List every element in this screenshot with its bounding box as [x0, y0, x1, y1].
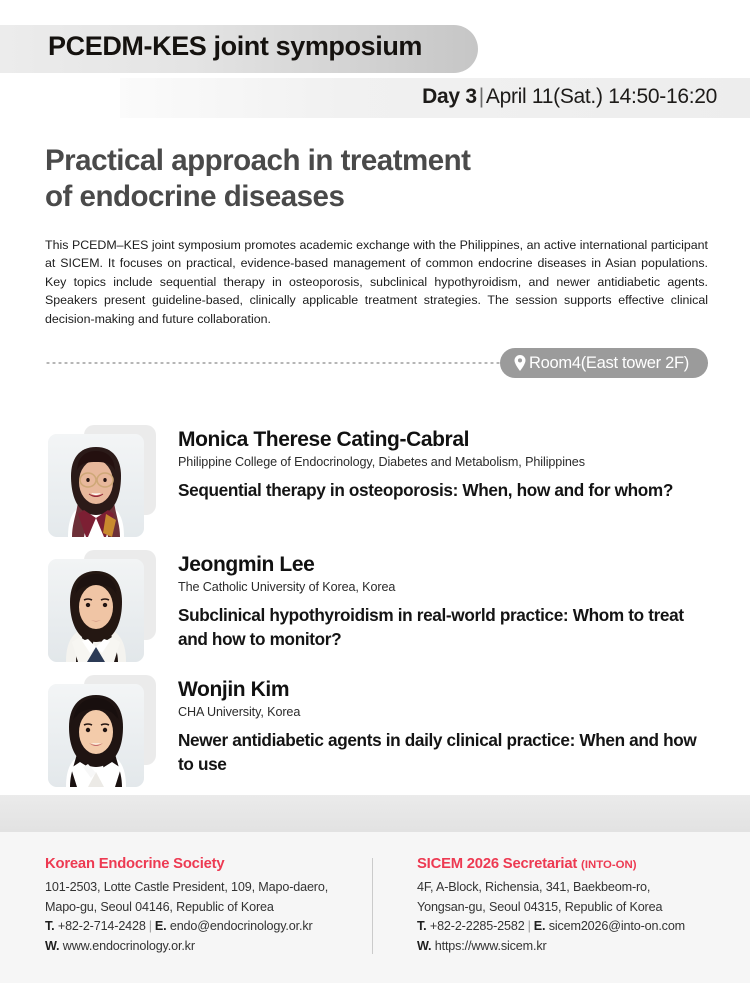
page-title: Practical approach in treatment of endoc… — [45, 143, 471, 215]
footer-address-line-1: 4F, A-Block, Richensia, 341, Baekbeom-ro… — [417, 878, 685, 898]
footer-web-prefix: W. — [45, 939, 59, 953]
footer-email[interactable]: sicem2026@into-on.com — [549, 919, 685, 933]
session-abstract: This PCEDM–KES joint symposium promotes … — [45, 236, 708, 328]
footer-web-row: W. www.endocrinology.or.kr — [45, 937, 375, 957]
speaker-topic: Sequential therapy in osteoporosis: When… — [178, 478, 673, 502]
day-label: Day 3 — [422, 85, 477, 108]
avatar — [48, 550, 158, 662]
footer-org-main: SICEM 2026 Secretariat — [417, 856, 577, 872]
speaker-topic: Subclinical hypothyroidism in real-world… — [178, 603, 713, 651]
footer-contact-row: T. +82-2-714-2428|E. endo@endocrinology.… — [45, 917, 375, 937]
room-badge-label: Room4(East tower 2F) — [529, 354, 689, 373]
footer-web[interactable]: https://www.sicem.kr — [435, 939, 547, 953]
day-separator: | — [477, 85, 486, 108]
avatar — [48, 425, 158, 537]
list-item: Jeongmin Lee The Catholic University of … — [48, 543, 713, 668]
footer-address-line-2: Mapo-gu, Seoul 04146, Republic of Korea — [45, 898, 375, 918]
speaker-text: Wonjin Kim CHA University, Korea Newer a… — [158, 668, 713, 776]
day-datetime: April 11(Sat.) 14:50-16:20 — [486, 85, 717, 108]
poster-header: PCEDM-KES joint symposium Day 3|April 11… — [0, 0, 750, 118]
footer-org-name: Korean Endocrine Society — [45, 856, 375, 872]
speaker-affiliation: Philippine College of Endocrinology, Dia… — [178, 454, 673, 471]
footer-column-secretariat: SICEM 2026 Secretariat (INTO-ON) 4F, A-B… — [375, 856, 685, 956]
footer-org-name: SICEM 2026 Secretariat (INTO-ON) — [417, 856, 685, 872]
footer-tel: +82-2-2285-2582 — [430, 919, 525, 933]
speaker-text: Monica Therese Cating-Cabral Philippine … — [158, 418, 673, 502]
list-item: Wonjin Kim CHA University, Korea Newer a… — [48, 668, 713, 793]
poster-footer: Korean Endocrine Society 101-2503, Lotte… — [0, 832, 750, 983]
session-title: PCEDM-KES joint symposium — [48, 31, 422, 62]
footer-tel-prefix: T. — [417, 919, 427, 933]
footer-tel-prefix: T. — [45, 919, 55, 933]
page-title-line-2: of endocrine diseases — [45, 179, 471, 215]
symposium-poster: PCEDM-KES joint symposium Day 3|April 11… — [0, 0, 750, 983]
footer-contact-separator: | — [525, 919, 534, 933]
footer-column-society: Korean Endocrine Society 101-2503, Lotte… — [45, 856, 375, 956]
footer-tel: +82-2-714-2428 — [58, 919, 146, 933]
footer-address-line-1: 101-2503, Lotte Castle President, 109, M… — [45, 878, 375, 898]
location-pin-icon — [514, 355, 526, 371]
footer-contact-row: T. +82-2-2285-2582|E. sicem2026@into-on.… — [417, 917, 685, 937]
footer-contact-separator: | — [146, 919, 155, 933]
footer-org-sub: (INTO-ON) — [581, 859, 636, 871]
speaker-affiliation: CHA University, Korea — [178, 704, 713, 721]
footer-separator-band — [0, 795, 750, 832]
speaker-name: Monica Therese Cating-Cabral — [178, 427, 673, 452]
footer-email-prefix: E. — [534, 919, 546, 933]
footer-web[interactable]: www.endocrinology.or.kr — [63, 939, 195, 953]
room-row: Room4(East tower 2F) — [45, 348, 708, 378]
speaker-list: Monica Therese Cating-Cabral Philippine … — [48, 418, 713, 793]
avatar — [48, 675, 158, 787]
footer-email-prefix: E. — [155, 919, 167, 933]
avatar-photo — [48, 684, 144, 787]
avatar-photo — [48, 559, 144, 662]
footer-address-line-2: Yongsan-gu, Seoul 04315, Republic of Kor… — [417, 898, 685, 918]
day-datetime-row: Day 3|April 11(Sat.) 14:50-16:20 — [422, 85, 717, 109]
footer-web-row: W. https://www.sicem.kr — [417, 937, 685, 957]
speaker-topic: Newer antidiabetic agents in daily clini… — [178, 728, 713, 776]
avatar-photo — [48, 434, 144, 537]
list-item: Monica Therese Cating-Cabral Philippine … — [48, 418, 713, 543]
page-title-line-1: Practical approach in treatment — [45, 143, 471, 179]
speaker-name: Wonjin Kim — [178, 677, 713, 702]
footer-email[interactable]: endo@endocrinology.or.kr — [170, 919, 313, 933]
speaker-text: Jeongmin Lee The Catholic University of … — [158, 543, 713, 651]
footer-web-prefix: W. — [417, 939, 431, 953]
room-badge: Room4(East tower 2F) — [500, 348, 708, 378]
speaker-affiliation: The Catholic University of Korea, Korea — [178, 579, 713, 596]
speaker-name: Jeongmin Lee — [178, 552, 713, 577]
